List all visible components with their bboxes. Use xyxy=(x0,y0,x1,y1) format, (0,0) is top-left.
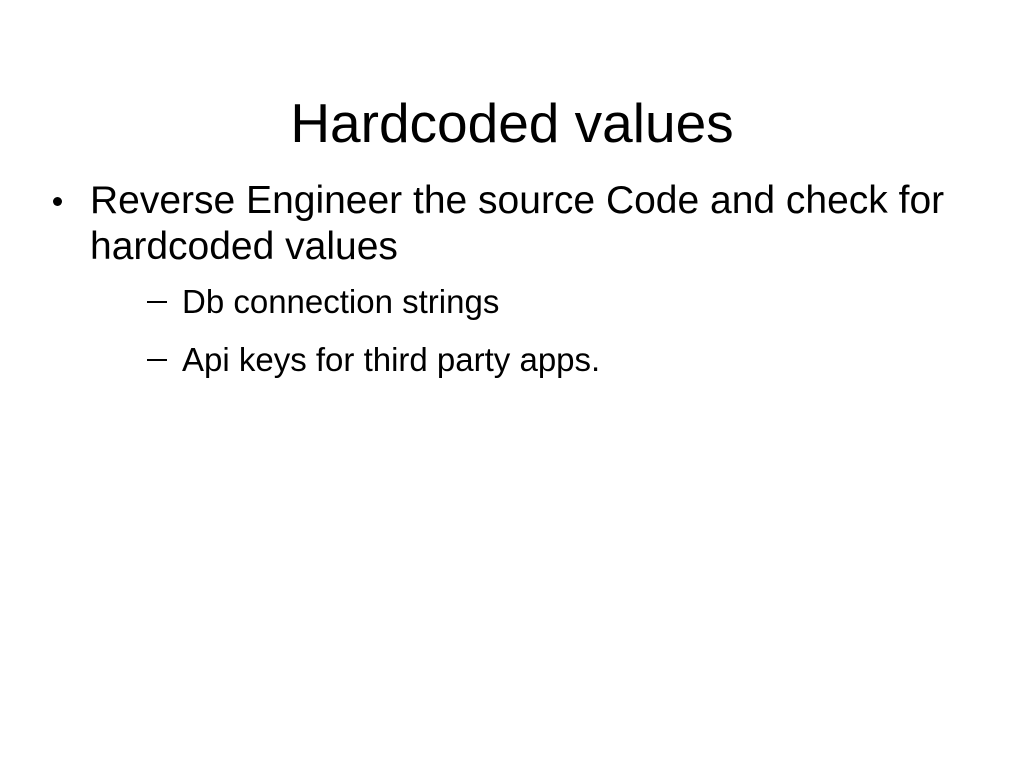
bullet-level2-text: Api keys for third party apps. xyxy=(182,340,964,379)
disc-bullet-icon xyxy=(53,197,62,206)
list-item: Api keys for third party apps. xyxy=(90,340,964,379)
bullet-level2-text: Db connection strings xyxy=(182,282,964,321)
en-dash-bullet-icon xyxy=(147,301,167,303)
list-item: Reverse Engineer the source Code and che… xyxy=(44,178,964,379)
slide-body: Reverse Engineer the source Code and che… xyxy=(44,178,964,398)
en-dash-bullet-icon xyxy=(147,359,167,361)
bullet-level1-text: Reverse Engineer the source Code and che… xyxy=(90,178,952,270)
sub-outline-list: Db connection strings Api keys for third… xyxy=(90,282,964,379)
slide-canvas: Hardcoded values Reverse Engineer the so… xyxy=(0,0,1024,768)
list-item: Db connection strings xyxy=(90,282,964,321)
page-title: Hardcoded values xyxy=(0,92,1024,154)
outline-list: Reverse Engineer the source Code and che… xyxy=(44,178,964,379)
